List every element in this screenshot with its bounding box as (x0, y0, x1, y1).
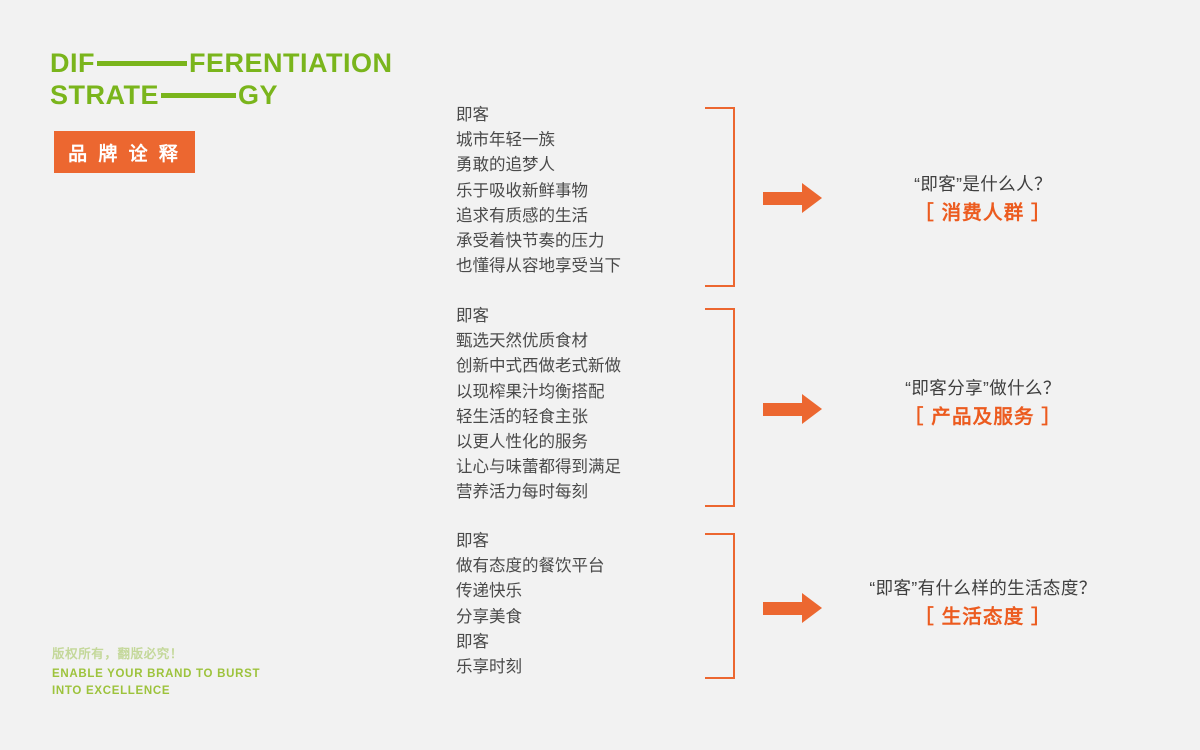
right-bracket-icon (705, 107, 735, 287)
list-item: 乐于吸收新鲜事物 (456, 179, 621, 204)
right-bracket-icon (705, 533, 735, 679)
arrow-right-icon (763, 593, 822, 623)
question-text: “即客”有什么样的生活态度？ (823, 574, 1143, 602)
list-item: 即客 (456, 529, 605, 554)
slide-canvas: DIF FERENTIATION STRATE GY 品 牌 诠 释 即客 城市… (0, 0, 1200, 750)
arrow-head (802, 183, 822, 213)
arrow-shaft (763, 403, 803, 416)
arrow-head (802, 394, 822, 424)
answer-text: ［ 生活态度 ］ (823, 602, 1143, 632)
list-item: 轻生活的轻食主张 (456, 405, 621, 430)
arrow-right-icon (763, 183, 822, 213)
arrow-head (802, 593, 822, 623)
headline-line-1-right: FERENTIATION (189, 48, 393, 78)
list-item: 分享美食 (456, 605, 605, 630)
list-item: 创新中式西做老式新做 (456, 354, 621, 379)
group-2-question-answer: “即客分享”做什么？ ［ 产品及服务 ］ (833, 374, 1133, 432)
list-item: 追求有质感的生活 (456, 204, 621, 229)
list-item: 以现榨果汁均衡搭配 (456, 380, 621, 405)
arrow-shaft (763, 192, 803, 205)
list-item: 营养活力每时每刻 (456, 480, 621, 505)
group-1-question-answer: “即客”是什么人？ ［ 消费人群 ］ (833, 170, 1133, 228)
tagline-line-2: INTO EXCELLENCE (52, 683, 260, 700)
group-3-text-list: 即客 做有态度的餐饮平台 传递快乐 分享美食 即客 乐享时刻 (456, 529, 605, 680)
group-2-text-list: 即客 甄选天然优质食材 创新中式西做老式新做 以现榨果汁均衡搭配 轻生活的轻食主… (456, 304, 621, 506)
list-item: 以更人性化的服务 (456, 430, 621, 455)
list-item: 传递快乐 (456, 579, 605, 604)
list-item: 乐享时刻 (456, 655, 605, 680)
list-item: 让心与味蕾都得到满足 (456, 455, 621, 480)
question-text: “即客”是什么人？ (833, 170, 1133, 198)
right-bracket-icon (705, 308, 735, 507)
headline-rule-icon (97, 61, 187, 66)
list-item: 甄选天然优质食材 (456, 329, 621, 354)
list-item: 做有态度的餐饮平台 (456, 554, 605, 579)
tagline-line-1: ENABLE YOUR BRAND TO BURST (52, 666, 260, 683)
list-item: 勇敢的追梦人 (456, 153, 621, 178)
list-item: 城市年轻一族 (456, 128, 621, 153)
arrow-shaft (763, 602, 803, 615)
list-item: 即客 (456, 304, 621, 329)
headline-block: DIF FERENTIATION STRATE GY (50, 48, 450, 110)
arrow-right-icon (763, 394, 822, 424)
group-1-text-list: 即客 城市年轻一族 勇敢的追梦人 乐于吸收新鲜事物 追求有质感的生活 承受着快节… (456, 103, 621, 279)
headline-line-1-left: DIF (50, 48, 95, 78)
group-3-question-answer: “即客”有什么样的生活态度？ ［ 生活态度 ］ (823, 574, 1143, 632)
answer-text: ［ 消费人群 ］ (833, 198, 1133, 228)
list-item: 即客 (456, 103, 621, 128)
question-text: “即客分享”做什么？ (833, 374, 1133, 402)
list-item: 即客 (456, 630, 605, 655)
list-item: 也懂得从容地享受当下 (456, 254, 621, 279)
copyright-cn: 版权所有，翻版必究！ (52, 645, 260, 663)
answer-text: ［ 产品及服务 ］ (833, 402, 1133, 432)
list-item: 承受着快节奏的压力 (456, 229, 621, 254)
content-group-1: 即客 城市年轻一族 勇敢的追梦人 乐于吸收新鲜事物 追求有质感的生活 承受着快节… (0, 103, 1200, 285)
footer-block: 版权所有，翻版必究！ ENABLE YOUR BRAND TO BURST IN… (52, 645, 260, 699)
headline-rule-icon (161, 93, 236, 98)
content-group-2: 即客 甄选天然优质食材 创新中式西做老式新做 以现榨果汁均衡搭配 轻生活的轻食主… (0, 304, 1200, 509)
headline-line-1: DIF FERENTIATION (50, 48, 450, 78)
